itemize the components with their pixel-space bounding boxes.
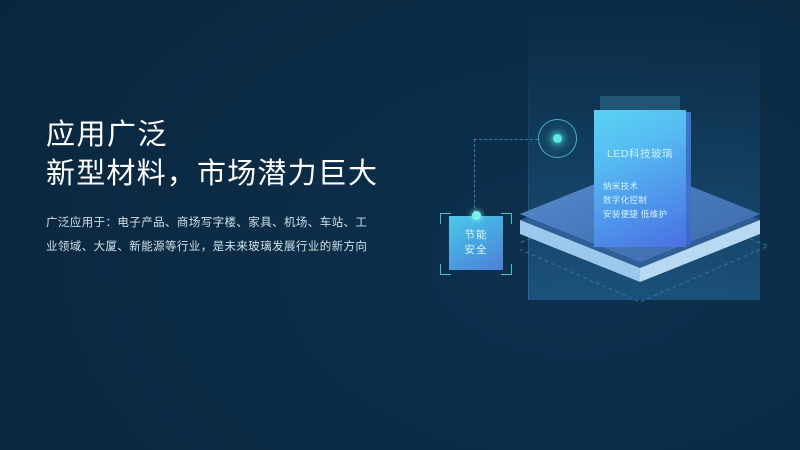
text-block: 应用广泛 新型材料，市场潜力巨大 广泛应用于：电子产品、商场写字楼、家具、机场、… <box>46 116 446 259</box>
node-center-dot-icon <box>553 134 562 143</box>
panel-title: LED科技玻璃 <box>594 146 686 161</box>
feature-badge: 节能 安全 <box>440 207 512 279</box>
led-glass-panel: LED科技玻璃 纳米技术 数字化控制 安装便捷 低维护 <box>594 110 686 247</box>
panel-feature-item: 数字化控制 <box>603 193 667 207</box>
circle-node-icon <box>538 119 577 158</box>
slide-canvas: 应用广泛 新型材料，市场潜力巨大 广泛应用于：电子产品、商场写字楼、家具、机场、… <box>0 0 800 450</box>
body-paragraph: 广泛应用于：电子产品、商场写字楼、家具、机场、车站、工业领域、大厦、新能源等行业… <box>46 211 376 259</box>
badge-label-line-2: 安全 <box>465 243 488 258</box>
badge-card: 节能 安全 <box>449 216 503 270</box>
page-title-line-2: 新型材料，市场潜力巨大 <box>46 155 446 194</box>
panel-feature-list: 纳米技术 数字化控制 安装便捷 低维护 <box>603 179 667 221</box>
panel-feature-item: 安装便捷 低维护 <box>603 207 667 221</box>
badge-label-line-1: 节能 <box>465 228 488 243</box>
page-title-line-1: 应用广泛 <box>46 116 446 155</box>
panel-side-face <box>686 112 691 245</box>
panel-feature-item: 纳米技术 <box>603 179 667 193</box>
dot-marker-icon <box>472 211 481 220</box>
